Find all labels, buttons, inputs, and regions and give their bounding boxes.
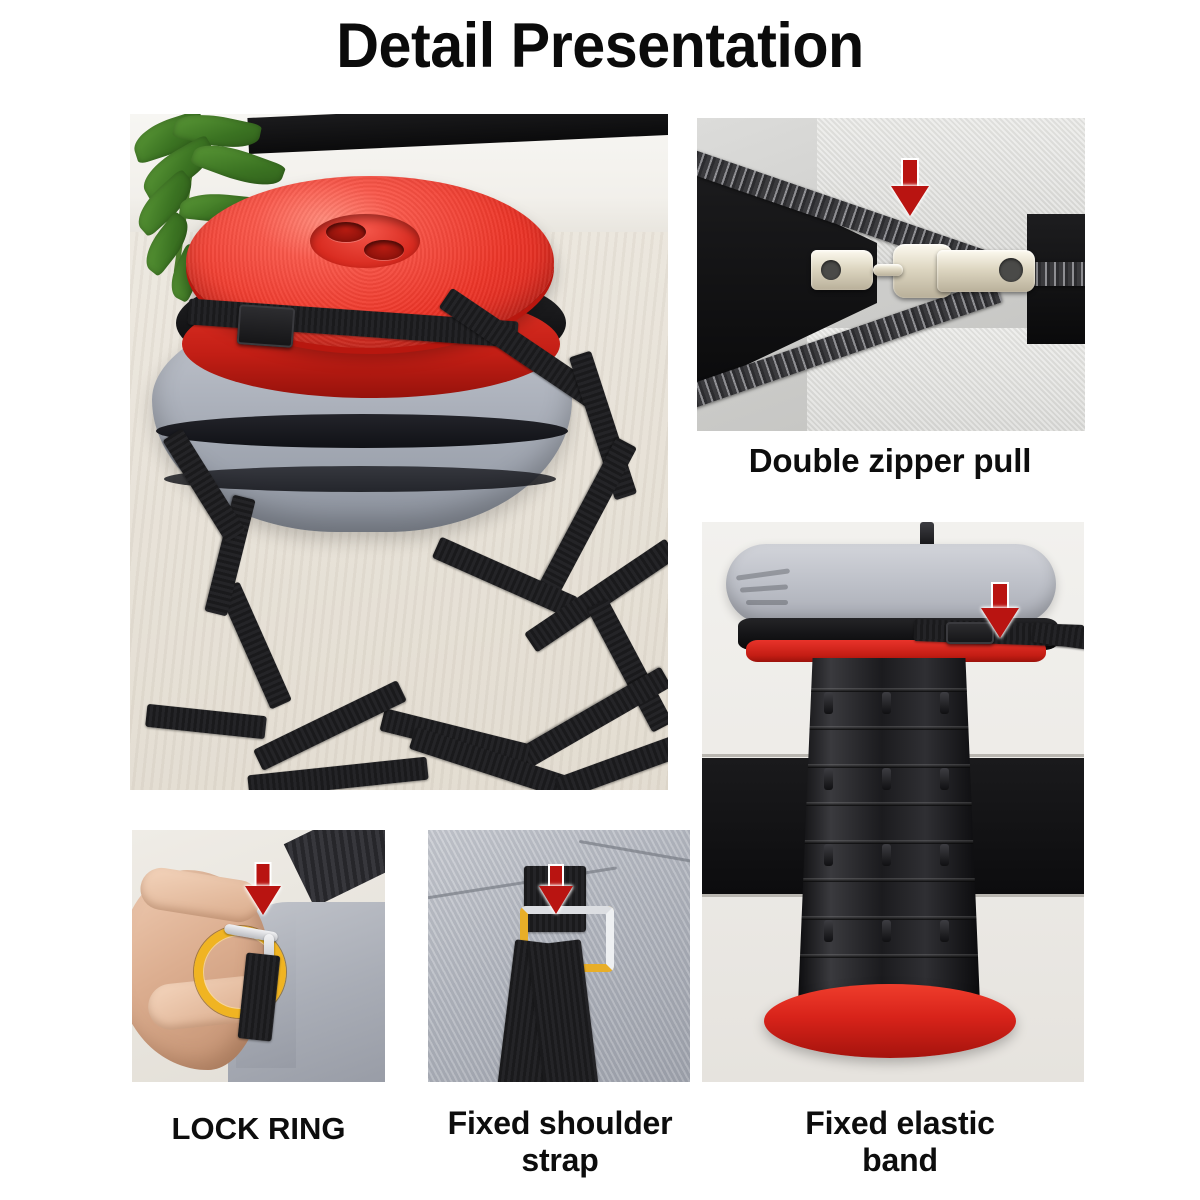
caption-line-2: strap (521, 1142, 598, 1178)
panel-fixed-elastic-band (702, 522, 1084, 1082)
column-latch (940, 768, 949, 790)
column-latch (824, 768, 833, 790)
caption-line-1: Fixed elastic (805, 1105, 995, 1141)
detail-presentation-page: Detail Presentation (0, 0, 1200, 1200)
caption-double-zipper-pull: Double zipper pull (660, 442, 1120, 479)
panel-folded-stool-in-carry-bag (130, 114, 668, 790)
telescoping-column (798, 658, 980, 1004)
column-ring (798, 726, 980, 730)
photo-double-zipper (697, 118, 1085, 431)
column-latch (824, 692, 833, 714)
seat-finger-hole (364, 240, 404, 260)
seat-finger-hole (326, 222, 366, 242)
column-ring (798, 878, 980, 882)
column-ring (798, 802, 980, 806)
column-latch (940, 920, 949, 942)
caption-line-2: band (862, 1142, 938, 1178)
column-ring (798, 954, 980, 958)
zipper-slider-left-hole (821, 260, 841, 280)
photo-fixed-elastic-band (702, 522, 1084, 1082)
caption-fixed-elastic-band: Fixed elastic band (740, 1105, 1060, 1179)
column-latch (940, 844, 949, 866)
column-latch (882, 768, 891, 790)
caption-fixed-shoulder-strap: Fixed shoulder strap (400, 1105, 720, 1179)
annotation-arrow-down (890, 158, 930, 216)
page-title: Detail Presentation (36, 8, 1164, 84)
panel-fixed-shoulder-strap (428, 830, 690, 1082)
panel-lock-ring (132, 830, 385, 1082)
column-latch (824, 920, 833, 942)
zipper-slider-right-hole (999, 258, 1023, 282)
column-latch (882, 920, 891, 942)
column-latch (882, 692, 891, 714)
seat-finger-dish (310, 214, 420, 268)
carry-bag-lower-seam (164, 466, 556, 492)
annotation-arrow-down (538, 864, 574, 916)
photo-fixed-shoulder-strap (428, 830, 690, 1082)
column-latch (940, 692, 949, 714)
annotation-arrow-down (244, 862, 282, 916)
carry-bag-zipper-seam (156, 414, 568, 448)
column-latch (824, 844, 833, 866)
caption-line-1: Fixed shoulder (448, 1105, 673, 1141)
column-latch (882, 844, 891, 866)
panel-double-zipper-pull (697, 118, 1085, 431)
photo-folded-stool (130, 114, 668, 790)
caption-lock-ring: LOCK RING (86, 1110, 431, 1147)
photo-lock-ring (132, 830, 385, 1082)
strap-buckle (237, 304, 296, 348)
zipper-slider-pin (873, 264, 903, 276)
annotation-arrow-down (980, 582, 1020, 638)
stool-red-base (764, 984, 1016, 1058)
bag-fold-line (746, 600, 788, 605)
